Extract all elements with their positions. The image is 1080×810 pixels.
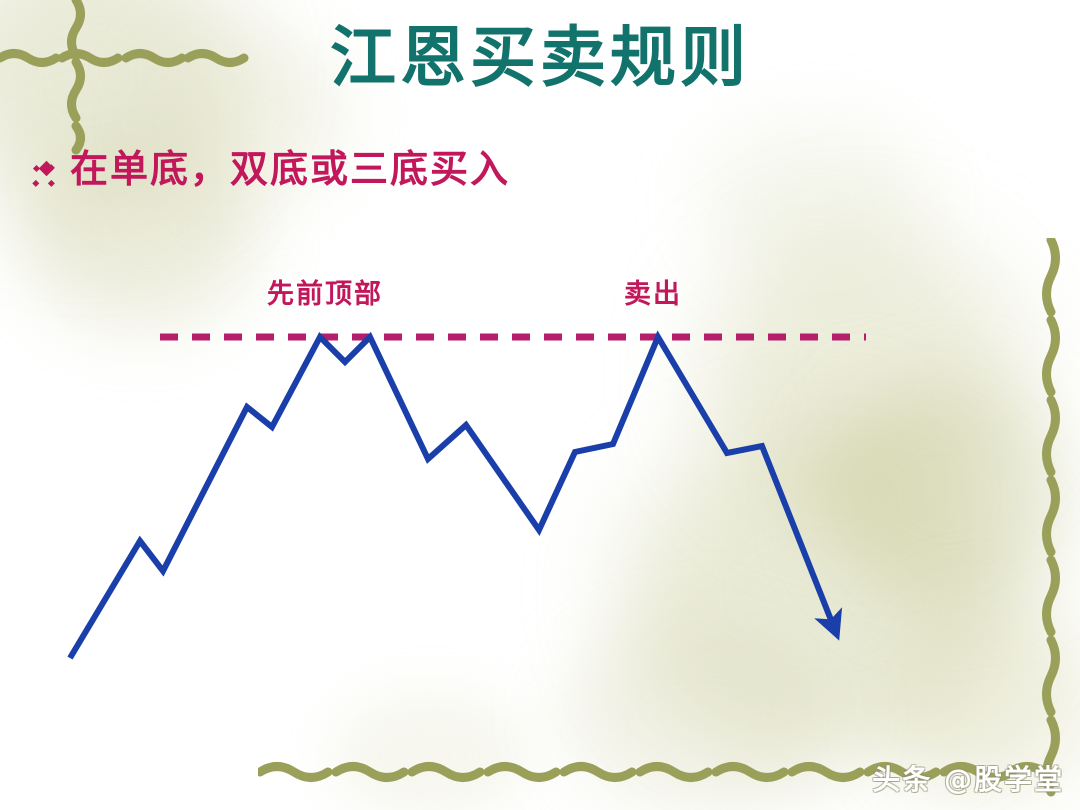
chart-annotation-previous-top: 先前顶部 <box>267 272 383 311</box>
price-chart <box>0 0 1080 810</box>
diamond-bullet-icon <box>34 156 60 182</box>
chart-annotation-sell: 卖出 <box>624 272 682 311</box>
slide-canvas: 江恩买卖规则 在单底，双底或三底买入 先前顶部 卖出 头条 @股学堂 <box>0 0 1080 810</box>
bullet-item: 在单底，双底或三底买入 <box>34 148 510 190</box>
background-floral-watermark <box>0 0 1080 810</box>
bamboo-vertical-decoration-right <box>1034 238 1068 798</box>
channel-watermark: 头条 @股学堂 <box>872 758 1064 798</box>
page-title: 江恩买卖规则 <box>0 16 1080 99</box>
bullet-item-label: 在单底，双底或三底买入 <box>70 148 510 190</box>
price-line <box>70 337 833 658</box>
